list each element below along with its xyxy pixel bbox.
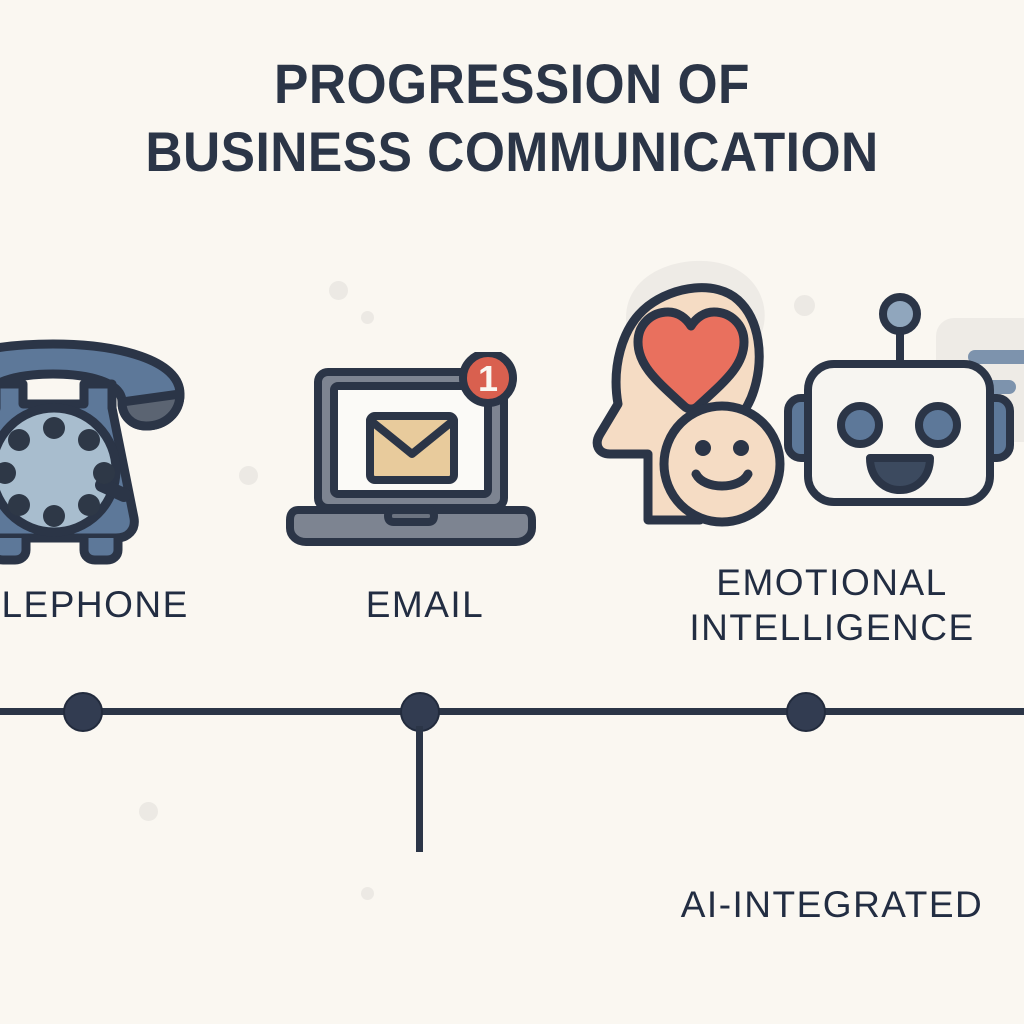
laptop-email-icon: 1 — [282, 352, 540, 548]
stage-label-email: EMAIL — [300, 582, 550, 627]
notification-badge-count: 1 — [478, 358, 498, 399]
decorative-dot — [361, 887, 374, 900]
stage-label-telephone: TELEPHONE — [0, 582, 210, 627]
page-title-line-2: BUSINESS COMMUNICATION — [41, 118, 983, 186]
timeline-dot-telephone[interactable] — [63, 692, 103, 732]
decorative-dot — [239, 466, 258, 485]
decorative-dot — [329, 281, 348, 300]
infographic-canvas: PROGRESSION OF BUSINESS COMMUNICATION — [0, 0, 1024, 1024]
antenna-bulb — [883, 297, 917, 331]
stage-label-ei-line-2: INTELLIGENCE — [689, 607, 974, 648]
decorative-dot — [361, 311, 374, 324]
decorative-dot — [139, 802, 158, 821]
timeline-axis — [0, 708, 1024, 715]
rotary-telephone-icon — [0, 330, 218, 570]
stage-label-emotional-intelligence: EMOTIONAL INTELLIGENCE — [640, 560, 1024, 650]
stage-label-ai-integrated: AI-INTEGRATED — [640, 882, 1024, 927]
stage-label-ei-line-1: EMOTIONAL — [716, 562, 947, 603]
robot-icon — [778, 288, 1024, 532]
timeline-drop-connector — [416, 726, 423, 852]
head-heart-smiley-icon — [586, 258, 806, 540]
timeline-dot-emotional-intelligence[interactable] — [786, 692, 826, 732]
page-title-line-1: PROGRESSION OF — [41, 50, 983, 118]
page-title: PROGRESSION OF BUSINESS COMMUNICATION — [0, 50, 1024, 186]
